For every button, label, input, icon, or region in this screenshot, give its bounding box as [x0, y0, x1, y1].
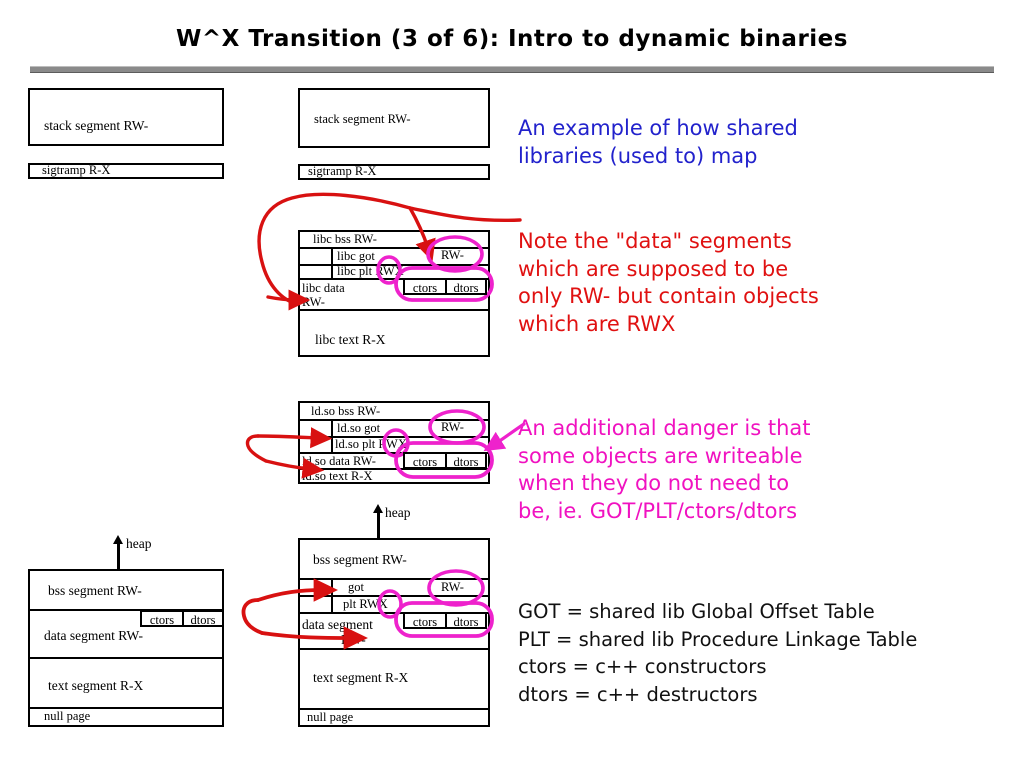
mid-data-segment-permission-label: RW-	[341, 632, 366, 648]
note-shared-libraries: An example of how shared libraries (used…	[518, 115, 918, 170]
note-writeable-objects: An additional danger is that some object…	[518, 415, 948, 526]
left-stack-segment-box	[28, 88, 224, 146]
left-sigtramp-label: sigtramp R-X	[42, 163, 110, 178]
mid-data-segment-label: data segment	[302, 617, 373, 633]
note-data-segments-rwx: Note the "data" segments which are suppo…	[518, 228, 948, 339]
left-divider-data-text	[28, 657, 224, 659]
mid-libc-got-plt-left-edge	[331, 247, 333, 278]
mid-ldso-got-permission-label: RW-	[441, 420, 464, 435]
left-bss-segment-label: bss segment RW-	[48, 583, 142, 599]
mid-divider-data-text	[298, 648, 490, 650]
left-dtors-cell: dtors	[184, 612, 222, 625]
mid-libc-dtors-cell: dtors	[447, 280, 485, 293]
mid-got-label: got	[348, 580, 364, 595]
mid-ldso-plt-label: ld.so plt RWX	[335, 437, 407, 452]
left-data-segment-label: data segment RW-	[44, 628, 143, 644]
mid-stack-segment-label: stack segment RW-	[314, 112, 411, 127]
mid-libc-got-label: libc got	[337, 249, 375, 264]
mid-heap-label: heap	[385, 505, 410, 521]
mid-heap-arrow-head	[373, 504, 383, 513]
mid-dtors-cell: dtors	[447, 614, 485, 627]
mid-libc-divider-data-text	[298, 309, 490, 311]
mid-libc-got-permission-label: RW-	[441, 248, 464, 263]
mid-ldso-data-label: ld.so data RW-	[302, 454, 376, 469]
left-stack-segment-label: stack segment RW-	[44, 118, 148, 134]
left-heap-arrow-head	[113, 535, 123, 544]
mid-ldso-ctors-dtors-table: ctors dtors	[403, 452, 487, 469]
mid-libc-ctors-dtors-table: ctors dtors	[403, 278, 487, 295]
mid-libc-ctors-cell: ctors	[405, 280, 447, 293]
mid-libc-text-label: libc text R-X	[315, 332, 386, 348]
mid-ldso-ctors-cell: ctors	[405, 454, 447, 467]
mid-ctors-dtors-table: ctors dtors	[403, 612, 487, 629]
left-ctors-dtors-table: ctors dtors	[140, 610, 224, 627]
left-ctors-cell: ctors	[142, 612, 184, 625]
mid-null-page-label: null page	[307, 710, 353, 725]
mid-plt-label: plt RWX	[343, 597, 388, 612]
mid-ldso-got-label: ld.so got	[337, 421, 380, 436]
page-title: W^X Transition (3 of 6): Intro to dynami…	[0, 26, 1024, 52]
mid-sigtramp-label: sigtramp R-X	[308, 164, 376, 179]
mid-libc-data-label: libc data	[302, 281, 345, 296]
mid-ldso-bss-label: ld.so bss RW-	[311, 404, 380, 419]
mid-libc-bss-label: libc bss RW-	[313, 232, 377, 247]
left-text-segment-label: text segment R-X	[48, 678, 143, 694]
mid-libc-plt-label: libc plt RWX	[337, 264, 404, 279]
mid-divider-got-plt	[298, 595, 490, 597]
mid-bss-segment-label: bss segment RW-	[313, 552, 407, 568]
mid-ctors-cell: ctors	[405, 614, 447, 627]
mid-ldso-dtors-cell: dtors	[447, 454, 485, 467]
left-null-page-label: null page	[44, 709, 90, 724]
left-heap-label: heap	[126, 536, 151, 552]
mid-ldso-got-plt-left-edge	[331, 419, 333, 452]
title-divider	[30, 66, 994, 73]
mid-libc-data-permission-label: RW-	[302, 295, 325, 310]
mid-heap-arrow-shaft	[377, 511, 380, 539]
mid-got-permission-label: RW-	[441, 580, 464, 595]
mid-got-plt-left-edge	[331, 578, 333, 612]
mid-text-segment-label: text segment R-X	[313, 670, 408, 686]
left-heap-arrow-shaft	[117, 542, 120, 571]
legend-abbreviations: GOT = shared lib Global Offset Table PLT…	[518, 598, 988, 709]
mid-ldso-text-label: ld.so text R-X	[302, 469, 372, 484]
